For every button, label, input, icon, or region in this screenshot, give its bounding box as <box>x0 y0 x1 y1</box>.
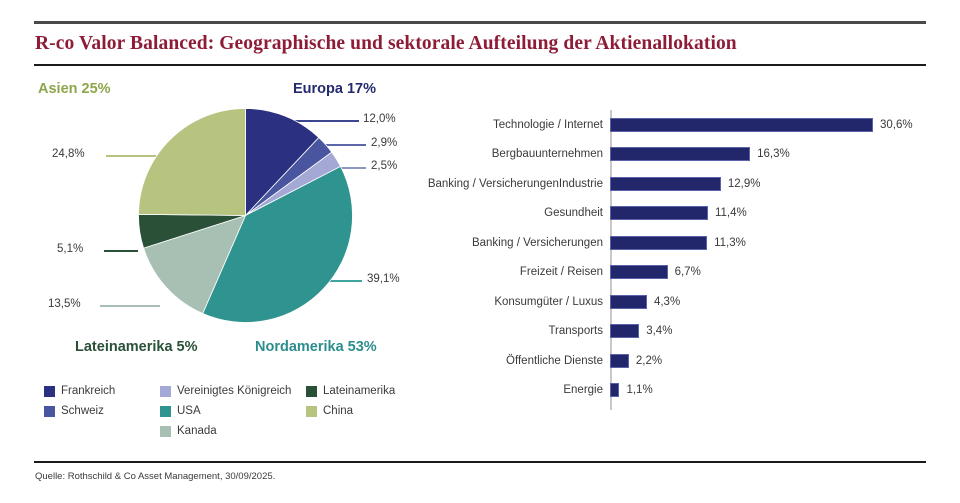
pie-value-kanada: 13,5% <box>48 298 81 310</box>
bar-category-label: Konsumgüter / Luxus <box>400 296 610 308</box>
legend-label: USA <box>177 405 201 417</box>
title-underline-rule <box>34 64 926 66</box>
pie-value-schweiz: 2,9% <box>371 137 397 149</box>
pie-value-lateinamerika: 5,1% <box>57 243 83 255</box>
bar-row[interactable]: Gesundheit11,4% <box>400 199 955 228</box>
legend-swatch-icon <box>44 406 55 417</box>
bar-row[interactable]: Bergbauunternehmen16,3% <box>400 140 955 169</box>
legend-swatch-icon <box>306 386 317 397</box>
bar-category-label: Bergbauunternehmen <box>400 148 610 160</box>
bar-value-label: 12,9% <box>728 178 761 190</box>
bar-category-label: Freizeit / Reisen <box>400 266 610 278</box>
legend-item[interactable]: Lateinamerika <box>306 385 395 397</box>
bar-fill <box>610 147 750 161</box>
legend-label: Kanada <box>177 425 217 437</box>
bar-track: 4,3% <box>610 287 955 316</box>
bar-value-label: 4,3% <box>654 296 680 308</box>
sector-bar-chart: Technologie / Internet30,6%Bergbauuntern… <box>400 110 955 410</box>
bar-fill <box>610 206 708 220</box>
legend-label: China <box>323 405 353 417</box>
legend-item[interactable]: Vereinigtes Königreich <box>160 385 291 397</box>
geographic-pie-chart: Asien 25% Europa 17% Lateinamerika 5% No… <box>30 75 450 375</box>
bar-fill <box>610 118 873 132</box>
pie-value-vereinigtes-koenigreich: 2,5% <box>371 160 397 172</box>
bar-track: 6,7% <box>610 258 955 287</box>
pie-slice <box>139 109 246 216</box>
legend-label: Vereinigtes Königreich <box>177 385 291 397</box>
bar-track: 30,6% <box>610 110 955 139</box>
bar-value-label: 3,4% <box>646 325 672 337</box>
bar-category-label: Öffentliche Dienste <box>400 355 610 367</box>
region-label-nordamerika: Nordamerika 53% <box>255 339 377 355</box>
legend-swatch-icon <box>160 426 171 437</box>
legend-item[interactable]: Schweiz <box>44 405 104 417</box>
region-label-europa: Europa 17% <box>293 81 376 97</box>
pie-value-frankreich: 12,0% <box>363 113 396 125</box>
pie-value-china: 24,8% <box>52 148 85 160</box>
legend-item[interactable]: China <box>306 405 353 417</box>
pie-svg-container <box>138 108 353 323</box>
bar-value-label: 1,1% <box>626 384 652 396</box>
leader-line-lateinamerika <box>104 250 138 252</box>
bar-fill <box>610 383 619 397</box>
legend-swatch-icon <box>44 386 55 397</box>
bar-row[interactable]: Banking / VersicherungenIndustrie12,9% <box>400 169 955 198</box>
region-label-asien: Asien 25% <box>38 81 111 97</box>
legend-swatch-icon <box>306 406 317 417</box>
bar-category-label: Energie <box>400 384 610 396</box>
bar-value-label: 11,4% <box>715 207 747 219</box>
bar-row[interactable]: Konsumgüter / Luxus4,3% <box>400 287 955 316</box>
legend-swatch-icon <box>160 386 171 397</box>
bar-category-label: Technologie / Internet <box>400 119 610 131</box>
legend-label: Schweiz <box>61 405 104 417</box>
header-rule <box>34 21 926 24</box>
bar-category-label: Banking / Versicherungen <box>400 237 610 249</box>
page-title: R-co Valor Balanced: Geographische und s… <box>35 33 737 55</box>
bar-fill <box>610 177 721 191</box>
bar-track: 11,3% <box>610 228 955 257</box>
legend-swatch-icon <box>160 406 171 417</box>
footer-rule <box>34 461 926 463</box>
bar-value-label: 30,6% <box>880 119 913 131</box>
bar-category-label: Transports <box>400 325 610 337</box>
bar-fill <box>610 324 639 338</box>
bar-track: 12,9% <box>610 169 955 198</box>
legend-item[interactable]: Kanada <box>160 425 217 437</box>
legend-item[interactable]: Frankreich <box>44 385 115 397</box>
bar-row[interactable]: Technologie / Internet30,6% <box>400 110 955 139</box>
bar-track: 3,4% <box>610 317 955 346</box>
bar-value-label: 6,7% <box>675 266 701 278</box>
bar-track: 16,3% <box>610 140 955 169</box>
bar-fill <box>610 354 629 368</box>
bar-value-label: 2,2% <box>636 355 662 367</box>
bar-row[interactable]: Banking / Versicherungen11,3% <box>400 228 955 257</box>
bar-track: 2,2% <box>610 346 955 375</box>
bar-value-label: 16,3% <box>757 148 790 160</box>
bar-fill <box>610 295 647 309</box>
bar-fill <box>610 236 707 250</box>
bar-track: 1,1% <box>610 376 955 405</box>
bar-fill <box>610 265 668 279</box>
bar-row[interactable]: Energie1,1% <box>400 376 955 405</box>
bar-category-label: Banking / VersicherungenIndustrie <box>400 178 610 190</box>
bar-value-label: 11,3% <box>714 237 746 249</box>
pie-value-usa: 39,1% <box>367 273 400 285</box>
legend-label: Lateinamerika <box>323 385 395 397</box>
legend-item[interactable]: USA <box>160 405 201 417</box>
bar-row[interactable]: Transports3,4% <box>400 317 955 346</box>
pie-legend: FrankreichSchweizVereinigtes KönigreichU… <box>44 385 444 450</box>
region-label-lateinamerika: Lateinamerika 5% <box>75 339 198 355</box>
source-note: Quelle: Rothschild & Co Asset Management… <box>35 471 275 482</box>
legend-label: Frankreich <box>61 385 115 397</box>
bar-row[interactable]: Freizeit / Reisen6,7% <box>400 258 955 287</box>
bar-row[interactable]: Öffentliche Dienste2,2% <box>400 346 955 375</box>
pie-svg <box>138 108 353 323</box>
bar-category-label: Gesundheit <box>400 207 610 219</box>
bar-track: 11,4% <box>610 199 955 228</box>
